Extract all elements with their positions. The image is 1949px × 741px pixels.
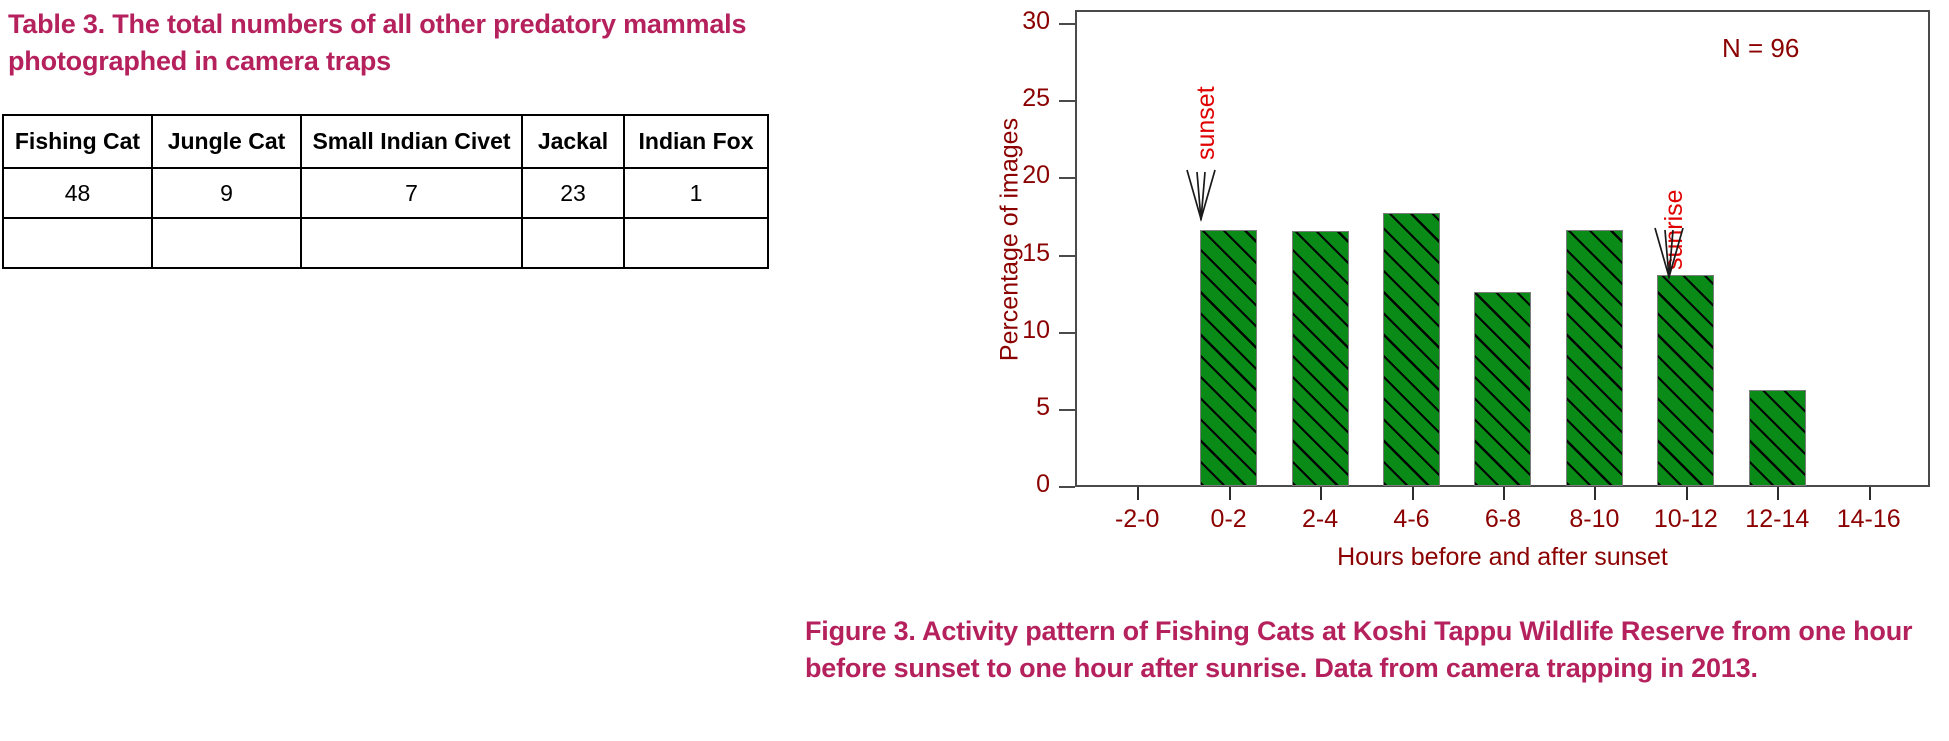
table-header-row: Fishing Cat Jungle Cat Small Indian Cive… xyxy=(3,115,768,168)
predatory-mammals-table: Fishing Cat Jungle Cat Small Indian Cive… xyxy=(2,114,769,269)
y-axis-tick xyxy=(1059,23,1075,25)
table-cell xyxy=(3,218,152,268)
y-axis-tick xyxy=(1059,486,1075,488)
sunrise-arrow-icon xyxy=(1652,226,1686,280)
table-cell: 1 xyxy=(624,168,768,218)
bar xyxy=(1383,213,1440,486)
table-header-cell: Jackal xyxy=(522,115,624,168)
y-axis-label: 0 xyxy=(1004,470,1050,499)
x-axis-tick xyxy=(1686,487,1688,500)
x-axis-label: 14-16 xyxy=(1814,505,1924,534)
y-axis-tick xyxy=(1059,332,1075,334)
x-axis-tick xyxy=(1137,487,1139,500)
table-cell xyxy=(301,218,522,268)
table-row: 48 9 7 23 1 xyxy=(3,168,768,218)
y-axis-label: 5 xyxy=(1004,393,1050,422)
table-cell xyxy=(152,218,301,268)
bar xyxy=(1200,230,1257,486)
bar xyxy=(1657,275,1714,486)
table-cell: 23 xyxy=(522,168,624,218)
y-axis-label: 10 xyxy=(1004,316,1050,345)
bar xyxy=(1474,292,1531,486)
table-cell xyxy=(522,218,624,268)
x-axis-tick xyxy=(1320,487,1322,500)
y-axis-label: 15 xyxy=(1004,239,1050,268)
table-header-cell: Jungle Cat xyxy=(152,115,301,168)
table-row xyxy=(3,218,768,268)
bar xyxy=(1292,231,1349,486)
y-axis-label: 25 xyxy=(1004,84,1050,113)
bar xyxy=(1749,390,1806,486)
x-axis-tick xyxy=(1229,487,1231,500)
y-axis-tick xyxy=(1059,409,1075,411)
x-axis-tick xyxy=(1503,487,1505,500)
table-header-cell: Fishing Cat xyxy=(3,115,152,168)
table-title: Table 3. The total numbers of all other … xyxy=(8,6,848,80)
y-axis-tick xyxy=(1059,100,1075,102)
x-axis-tick xyxy=(1869,487,1871,500)
table-header-cell: Indian Fox xyxy=(624,115,768,168)
figure-caption: Figure 3. Activity pattern of Fishing Ca… xyxy=(805,613,1940,687)
sunset-arrow-icon xyxy=(1184,168,1218,222)
y-axis-label: 20 xyxy=(1004,161,1050,190)
table-header-cell: Small Indian Civet xyxy=(301,115,522,168)
table-cell: 9 xyxy=(152,168,301,218)
y-axis-tick xyxy=(1059,177,1075,179)
y-axis-label: 30 xyxy=(1004,7,1050,36)
y-axis-tick xyxy=(1059,255,1075,257)
sunset-annotation-label: sunset xyxy=(1192,86,1221,160)
table-cell xyxy=(624,218,768,268)
x-axis-tick xyxy=(1777,487,1779,500)
table-cell: 7 xyxy=(301,168,522,218)
x-axis-tick xyxy=(1594,487,1596,500)
sample-size-annotation: N = 96 xyxy=(1722,33,1799,64)
bar xyxy=(1566,230,1623,486)
table-cell: 48 xyxy=(3,168,152,218)
x-axis-title: Hours before and after sunset xyxy=(1075,543,1930,572)
figure-panel: Percentage of images 051015202530 -2-00-… xyxy=(980,0,1949,741)
x-axis-tick xyxy=(1412,487,1414,500)
